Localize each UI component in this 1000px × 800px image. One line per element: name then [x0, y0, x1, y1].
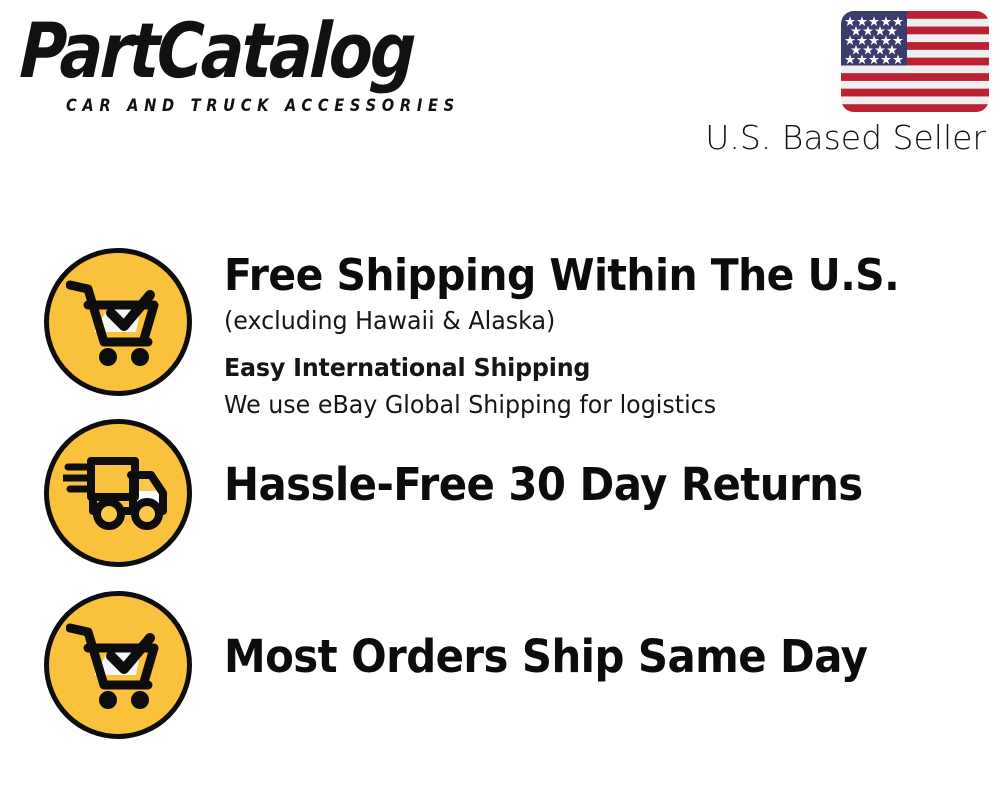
feature-subtext: Easy International Shipping	[224, 350, 961, 386]
shopping-cart-check-icon	[44, 591, 192, 739]
brand-wordmark: PartCatalog	[18, 8, 415, 94]
feature-row: Most Orders Ship Same Day	[0, 591, 1000, 739]
brand-tagline: CAR AND TRUCK ACCESSORIES	[66, 96, 460, 116]
delivery-truck-icon	[44, 419, 192, 567]
us-flag-icon	[841, 11, 989, 112]
feature-title: Free Shipping Within The U.S.	[224, 250, 946, 302]
feature-text: Free Shipping Within The U.S. (excluding…	[224, 248, 1000, 423]
feature-text: Hassle-Free 30 Day Returns	[224, 419, 1000, 511]
page-header: PartCatalog CAR AND TRUCK ACCESSORIES	[0, 0, 1000, 170]
feature-subtext: We use eBay Global Shipping for logistic…	[224, 387, 961, 423]
feature-text: Most Orders Ship Same Day	[224, 591, 1000, 683]
feature-title: Hassle-Free 30 Day Returns	[224, 459, 946, 511]
shopping-cart-check-icon	[44, 248, 192, 396]
feature-row: Free Shipping Within The U.S. (excluding…	[0, 248, 1000, 423]
feature-title: Most Orders Ship Same Day	[224, 631, 946, 683]
feature-row: Hassle-Free 30 Day Returns	[0, 419, 1000, 567]
brand-logo[interactable]: PartCatalog CAR AND TRUCK ACCESSORIES	[22, 12, 492, 117]
us-based-seller-label: U.S. Based Seller	[705, 118, 986, 158]
feature-subtext: (excluding Hawaii & Alaska)	[224, 303, 961, 339]
